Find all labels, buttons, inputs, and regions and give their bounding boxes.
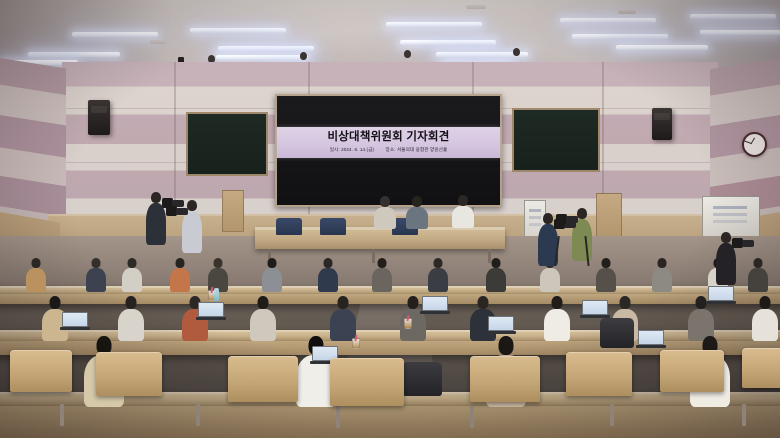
security-camera-icon: [513, 48, 520, 56]
laptop-screen: [62, 312, 88, 327]
desk-row-1-person-14: [748, 258, 768, 292]
video-camera-icon: [166, 206, 186, 220]
videographer-right-b-head: [577, 208, 587, 219]
laptop-screen: [638, 330, 664, 345]
water-bottle-icon: [214, 288, 219, 301]
ceiling-light: [572, 34, 668, 39]
desk-row-2-person-10-body: [752, 309, 778, 341]
laptop-icon: [706, 286, 736, 304]
panelist-right: [452, 195, 474, 228]
ceiling-light: [690, 14, 776, 19]
panelist-center-body: [406, 207, 428, 229]
desk-row-1-person-5-body: [262, 268, 282, 292]
panelist-left-head: [380, 196, 390, 207]
wall-speaker-icon: [652, 108, 672, 140]
empty-seat-back: [96, 352, 162, 396]
laptop-screen: [708, 286, 734, 301]
projection-screen: 비상대책위원회 기자회견 일시: 2024. 6. 14.(금) 장소: 서울의…: [277, 96, 500, 205]
desk-row-1-person-3-head: [176, 258, 185, 268]
laptop-screen: [198, 302, 224, 317]
desk-row-1-person-8-head: [434, 258, 443, 268]
stage-chair: [276, 218, 302, 235]
ceiling-light: [560, 18, 656, 23]
laptop-base: [706, 301, 736, 304]
desk-row-1-person-14-head: [754, 258, 763, 268]
desk-row-1-person-9-body: [486, 268, 506, 292]
desk-row-1-person-1-head: [92, 258, 101, 268]
video-camera-icon: [732, 238, 752, 252]
panelist-center: [406, 196, 428, 229]
ceiling-light: [218, 46, 314, 51]
security-camera-icon: [404, 50, 411, 58]
desk-row-2-person-7: [544, 296, 570, 341]
desk-row-1-person-8: [428, 258, 448, 292]
camera-lens: [566, 216, 578, 223]
projection-screen-frame: 비상대책위원회 기자회견 일시: 2024. 6. 14.(금) 장소: 서울의…: [275, 94, 502, 207]
desk-row-2-person-1: [118, 296, 144, 341]
empty-seat-back: [566, 352, 632, 396]
desk-row-2-person-5-head: [408, 296, 419, 309]
desk-row-2-person-0-head: [50, 296, 61, 309]
laptop-icon: [580, 300, 610, 318]
laptop-base: [420, 311, 450, 314]
stage-chair: [320, 218, 346, 235]
panelist-left-body: [374, 207, 396, 229]
videographer-far-right-head: [721, 232, 731, 243]
desk-row-1-person-7-body: [372, 268, 392, 292]
desk-row-2-person-10-head: [760, 296, 771, 309]
ceiling-light: [386, 22, 482, 27]
empty-seat-back: [228, 356, 298, 402]
door-icon: [596, 193, 622, 239]
banner-subtitle: 일시: 2024. 6. 14.(금) 장소: 서울의대 융합관 양윤선홀: [325, 147, 453, 153]
desk-row-2-person-7-body: [544, 309, 570, 341]
desk-leg: [470, 406, 474, 428]
desk-row-1-person-8-body: [428, 268, 448, 292]
desk-row-1-person-6: [318, 258, 338, 292]
conference-banner: 비상대책위원회 기자회견 일시: 2024. 6. 14.(금) 장소: 서울의…: [277, 127, 500, 158]
desk-row-1-person-0: [26, 258, 46, 292]
desk-row-1-person-7-head: [378, 258, 387, 268]
blackboard: [186, 112, 268, 176]
banner-title: 비상대책위원회 기자회견: [328, 132, 450, 144]
laptop-icon: [486, 316, 516, 334]
desk-row-2-person-4: [330, 296, 356, 341]
photographer-standing-mid-head: [187, 200, 197, 211]
desk-row-1-person-3-body: [170, 268, 190, 292]
desk-row-2-person-9-head: [696, 296, 707, 309]
desk-row-1-person-6-head: [324, 258, 333, 268]
desk-row-1-person-5: [262, 258, 282, 292]
desk-front-panel: [0, 294, 780, 304]
security-camera-icon: [300, 52, 307, 60]
laptop-base: [486, 331, 516, 334]
ceiling-light: [400, 40, 496, 45]
backpack-icon: [402, 362, 442, 396]
coffee-cup-icon: [352, 338, 360, 349]
videographer-right-a-head: [543, 213, 553, 224]
panelist-left: [374, 196, 396, 229]
desk-row-2-person-1-head: [126, 296, 137, 309]
laptop-screen: [422, 296, 448, 311]
video-camera-icon: [556, 214, 576, 228]
desk-row-1-person-3: [170, 258, 190, 292]
blackboard: [512, 108, 600, 172]
empty-seat-back: [330, 358, 404, 406]
desk-row-2-person-3-body: [250, 309, 276, 341]
camera-lens: [742, 240, 754, 247]
door-icon: [222, 190, 244, 232]
desk-row-1-person-12-body: [652, 268, 672, 292]
desk-row-1-person-2-head: [128, 258, 137, 268]
banner-place: 장소: 서울의대 융합관 양윤선홀: [386, 147, 448, 152]
desk-row-1-person-11-head: [602, 258, 611, 268]
laptop-icon: [636, 330, 666, 348]
desk-row-1-person-11-body: [596, 268, 616, 292]
laptop-icon: [60, 312, 90, 330]
ceiling-vent-icon: [150, 40, 166, 44]
wall-speaker-icon: [88, 100, 110, 135]
desk-row-1-person-5-head: [268, 258, 277, 268]
laptop-icon: [420, 296, 450, 314]
desk-row-2-person-4-head: [338, 296, 349, 309]
lecture-hall-photo: 비상대책위원회 기자회견 일시: 2024. 6. 14.(금) 장소: 서울의…: [0, 0, 780, 438]
empty-seat-back: [470, 356, 540, 402]
desk-row-2-person-6-head: [478, 296, 489, 309]
desk-row-1-person-2-body: [122, 268, 142, 292]
panelist-right-body: [452, 206, 474, 228]
laptop-base: [636, 345, 666, 348]
desk-row-1-person-0-head: [32, 258, 41, 268]
desk-row-1-person-1-body: [86, 268, 106, 292]
desk-row-1-person-2: [122, 258, 142, 292]
desk-leg: [60, 404, 64, 426]
ceiling-light: [216, 55, 308, 60]
desk-leg: [336, 406, 340, 428]
ceiling-vent-icon: [466, 5, 486, 9]
laptop-screen: [488, 316, 514, 331]
panelist-right-head: [458, 195, 468, 206]
desk-row-1-person-10-body: [540, 268, 560, 292]
desk-row-1-person-1: [86, 258, 106, 292]
desk-row-2-person-3: [250, 296, 276, 341]
desk-row-1-person-12-head: [658, 258, 667, 268]
laptop-base: [196, 317, 226, 320]
ceiling-light: [28, 52, 120, 57]
desk-row-2-person-8-head: [620, 296, 631, 309]
ceiling-light: [190, 28, 286, 33]
wall-clock-icon: [742, 132, 767, 157]
ceiling-light: [700, 30, 780, 35]
desk-row-3-person-2-head: [499, 336, 514, 355]
desk-front-panel: [0, 406, 780, 438]
desk-row-1-person-9: [486, 258, 506, 292]
photographer-standing-left-head: [151, 192, 161, 203]
laptop-icon: [196, 302, 226, 320]
empty-seat-back: [660, 350, 724, 392]
desk-leg: [742, 404, 746, 426]
desk-leg: [610, 404, 614, 426]
panelist-center-head: [412, 196, 422, 207]
ceiling-light: [72, 32, 158, 37]
desk-row-1-person-4-head: [214, 258, 223, 268]
desk-row-2-person-10: [752, 296, 778, 341]
desk-row-1-person-11: [596, 258, 616, 292]
desk-row-2-person-7-head: [552, 296, 563, 309]
desk-leg: [196, 404, 200, 426]
desk-row-1-person-0-body: [26, 268, 46, 292]
desk-row-1-person-9-head: [492, 258, 501, 268]
banner-date: 일시: 2024. 6. 14.(금): [330, 147, 374, 152]
laptop-screen: [582, 300, 608, 315]
laptop-base: [60, 327, 90, 330]
desk-row-1-person-14-body: [748, 268, 768, 292]
desk-row-2-person-3-head: [258, 296, 269, 309]
desk-row-1-person-7: [372, 258, 392, 292]
empty-seat-back: [10, 350, 72, 392]
empty-seat-back: [742, 348, 780, 388]
backpack-icon: [600, 318, 634, 348]
ceiling-vent-icon: [618, 10, 636, 14]
coffee-cup-icon: [404, 318, 412, 329]
ceiling-light: [616, 45, 708, 50]
camera-lens: [176, 208, 188, 215]
desk-row-1-person-12: [652, 258, 672, 292]
desk-row-1-person-6-body: [318, 268, 338, 292]
